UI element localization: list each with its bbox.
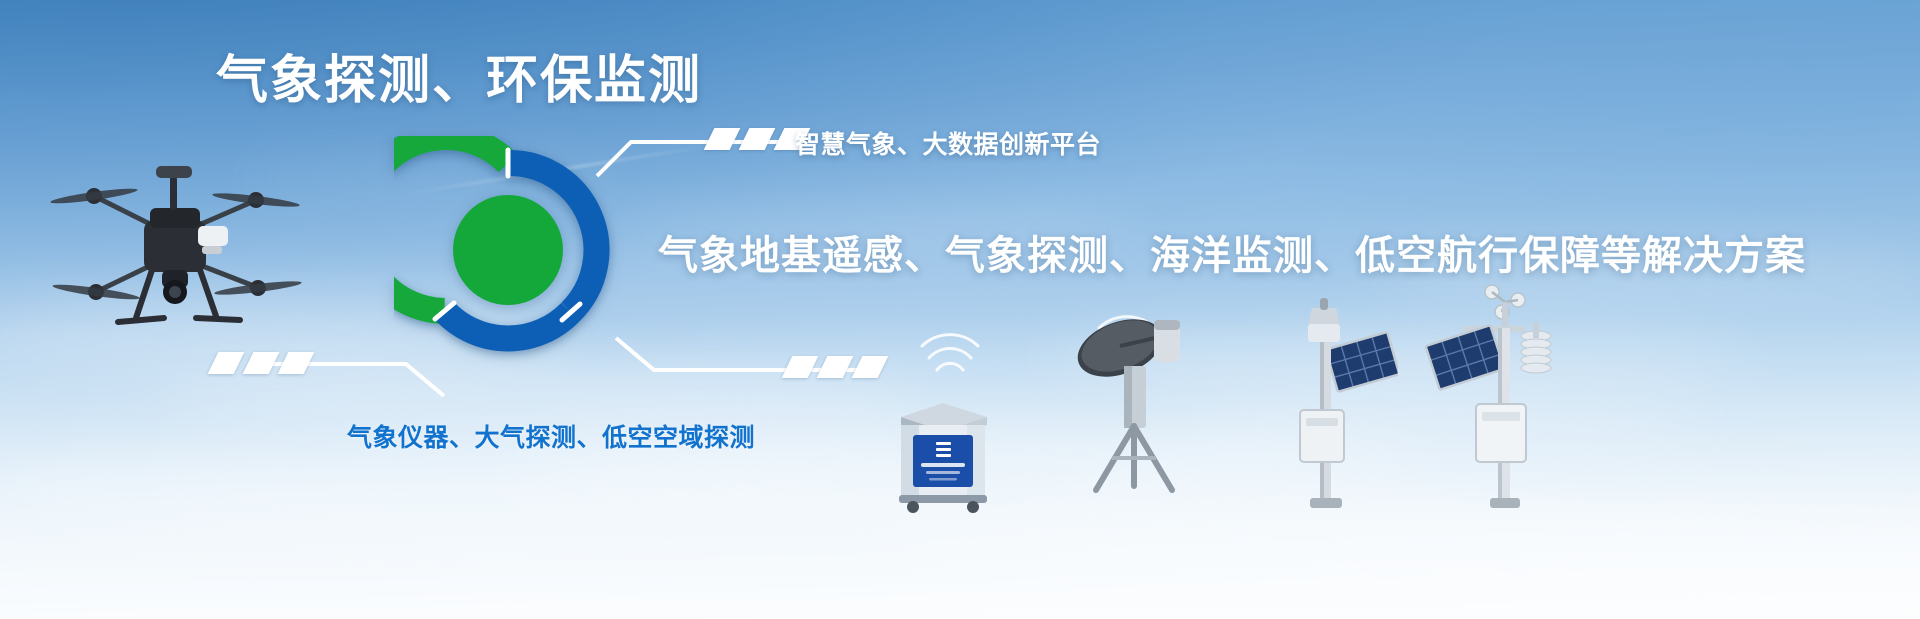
- slash-mark: [852, 356, 889, 378]
- radar-dish-photo: [1068, 300, 1198, 500]
- callout-top-label: 智慧气象、大数据创新平台: [795, 130, 1101, 160]
- slash-mark: [782, 356, 819, 378]
- slash-mark: [704, 128, 741, 150]
- slash-mark: [243, 352, 280, 374]
- segmented-donut-graphic: [394, 136, 622, 364]
- slash-mark: [208, 352, 245, 374]
- main-statement: 气象地基遥感、气象探测、海洋监测、低空航行保障等解决方案: [658, 230, 1806, 282]
- slash-mark: [278, 352, 315, 374]
- slash-mark: [817, 356, 854, 378]
- drone-photo: [40, 150, 310, 345]
- slash-marks-bottom-right: [787, 356, 883, 378]
- callout-bottom-label: 气象仪器、大气探测、低空空域探测: [347, 423, 755, 453]
- slash-marks-bottom-left: [213, 352, 309, 374]
- page-title: 气象探测、环保监测: [216, 50, 702, 112]
- slash-mark: [739, 128, 776, 150]
- slash-marks-top: [709, 128, 805, 150]
- signal-waves-icon: [915, 318, 985, 378]
- solar-station-photo-a: [1278, 298, 1398, 513]
- weather-detection-banner: 气象探测、环保监测: [0, 0, 1920, 619]
- solar-station-photo-b: [1410, 278, 1560, 513]
- monitor-cabinet-photo: [893, 395, 993, 513]
